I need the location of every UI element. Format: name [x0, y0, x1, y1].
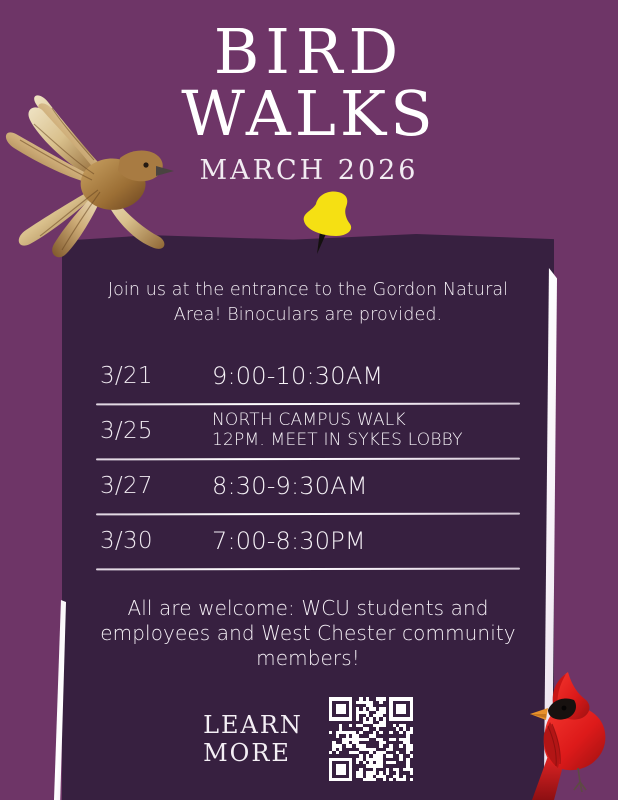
northern-cardinal-illustration — [520, 652, 616, 800]
schedule-row: 3/30 7:00-8:30PM — [94, 515, 522, 568]
learn-more-section: LEARN MORE — [90, 697, 526, 781]
schedule-divider — [96, 567, 520, 570]
card-content: Join us at the entrance to the Gordon Na… — [62, 234, 554, 800]
schedule-time-line-2: 12PM. MEET IN SYKES LOBBY — [212, 431, 522, 451]
poster-title-line-1: BIRD — [0, 22, 618, 82]
schedule-date: 3/25 — [94, 418, 212, 444]
schedule-time: 8:30-9:30AM — [212, 472, 522, 500]
schedule-time: 9:00-10:30AM — [212, 362, 522, 390]
schedule-time-line-1: NORTH CAMPUS WALK — [212, 411, 522, 431]
schedule-divider — [96, 512, 520, 515]
schedule-date: 3/30 — [94, 528, 212, 554]
intro-text: Join us at the entrance to the Gordon Na… — [90, 278, 526, 328]
learn-more-line-2: MORE — [203, 739, 303, 767]
flying-sparrow-illustration — [0, 86, 174, 258]
bird-walks-poster: BIRD WALKS MARCH 2026 Join us at the ent… — [0, 0, 618, 800]
schedule-date: 3/27 — [94, 473, 212, 499]
schedule-row: 3/25 NORTH CAMPUS WALK 12PM. MEET IN SYK… — [94, 405, 522, 458]
schedule-row: 3/21 9:00-10:30AM — [94, 350, 522, 403]
welcome-text: All are welcome: WCU students and employ… — [90, 596, 526, 672]
yellow-pushpin-icon — [294, 186, 360, 256]
schedule-time: 7:00-8:30PM — [212, 527, 522, 555]
qr-code[interactable] — [329, 697, 413, 781]
schedule-row: 3/27 8:30-9:30AM — [94, 460, 522, 513]
schedule-time: NORTH CAMPUS WALK 12PM. MEET IN SYKES LO… — [212, 411, 522, 450]
schedule-list: 3/21 9:00-10:30AM 3/25 NORTH CAMPUS WALK… — [90, 350, 526, 570]
learn-more-label: LEARN MORE — [203, 711, 303, 768]
schedule-divider — [96, 457, 520, 460]
learn-more-line-1: LEARN — [203, 711, 303, 739]
schedule-date: 3/21 — [94, 363, 212, 389]
schedule-divider — [96, 402, 520, 405]
